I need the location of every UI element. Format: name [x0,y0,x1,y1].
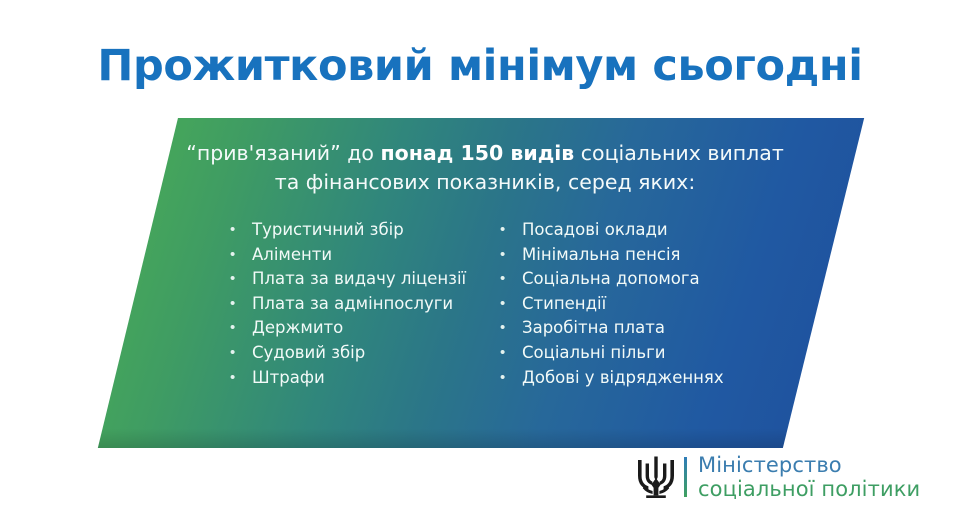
ministry-logo: Міністерство соціальної політики [636,452,960,502]
bullet-icon: • [500,296,522,311]
presentation-slide: Прожитковий мінімум сьогодні “прив'язани… [0,0,960,502]
bullet-icon: • [500,271,522,286]
bullet-icon: • [500,247,522,262]
list-item: • Мінімальна пенсія [500,247,810,272]
ministry-name: Міністерство соціальної політики [698,453,960,502]
panel-heading-part-1: “прив'язаний” до [186,141,380,165]
list-item: • Соціальна допомога [500,271,810,296]
list-item-label: Плата за видачу ліцензії [252,271,466,288]
list-item-label: Судовий збір [252,345,365,362]
bullet-columns: • Туристичний збір • Аліменти • Плата за… [90,222,872,432]
list-item: • Заробітна плата [500,320,810,345]
panel-heading-highlight: понад 150 видів [381,141,575,165]
bullet-icon: • [500,222,522,237]
list-item-label: Плата за адмінпослуги [252,296,453,313]
bullet-icon: • [500,345,522,360]
list-item-label: Туристичний збір [252,222,404,239]
list-item-label: Посадові оклади [522,222,668,239]
list-item: • Штрафи [230,370,520,395]
list-item-label: Штрафи [252,370,325,387]
list-item-label: Держмито [252,320,343,337]
list-item-label: Соціальна допомога [522,271,700,288]
list-item: • Аліменти [230,247,520,272]
list-item: • Добові у відрядженнях [500,370,810,395]
bullet-icon: • [230,345,252,360]
list-item: • Плата за видачу ліцензії [230,271,520,296]
list-item-label: Заробітна плата [522,320,665,337]
list-item: • Стипендії [500,296,810,321]
bullet-icon: • [230,296,252,311]
bullet-column-right: • Посадові оклади • Мінімальна пенсія • … [500,222,810,394]
list-item: • Соціальні пільги [500,345,810,370]
bullet-icon: • [230,370,252,385]
content-panel: “прив'язаний” до понад 150 видів соціаль… [90,114,872,452]
tryzub-icon [636,454,676,500]
panel-heading-line-2: та фінансових показників, серед яких: [275,170,695,194]
bullet-icon: • [230,247,252,262]
list-item-label: Добові у відрядженнях [522,370,724,387]
list-item: • Посадові оклади [500,222,810,247]
bullet-icon: • [230,222,252,237]
list-item-label: Мінімальна пенсія [522,247,680,264]
list-item-label: Аліменти [252,247,332,264]
list-item-label: Соціальні пільги [522,345,665,362]
logo-divider [684,457,687,497]
ministry-name-line-2: соціальної політики [698,477,920,501]
bullet-column-left: • Туристичний збір • Аліменти • Плата за… [230,222,520,394]
list-item: • Держмито [230,320,520,345]
list-item: • Плата за адмінпослуги [230,296,520,321]
ministry-name-line-1: Міністерство [698,453,842,477]
list-item-label: Стипендії [522,296,606,313]
bullet-icon: • [500,320,522,335]
list-item: • Туристичний збір [230,222,520,247]
panel-heading: “прив'язаний” до понад 150 видів соціаль… [150,139,820,197]
page-title: Прожитковий мінімум сьогодні [0,44,960,89]
panel-heading-part-2: соціальних виплат [574,141,784,165]
bullet-icon: • [500,370,522,385]
bullet-icon: • [230,320,252,335]
bullet-icon: • [230,271,252,286]
list-item: • Судовий збір [230,345,520,370]
